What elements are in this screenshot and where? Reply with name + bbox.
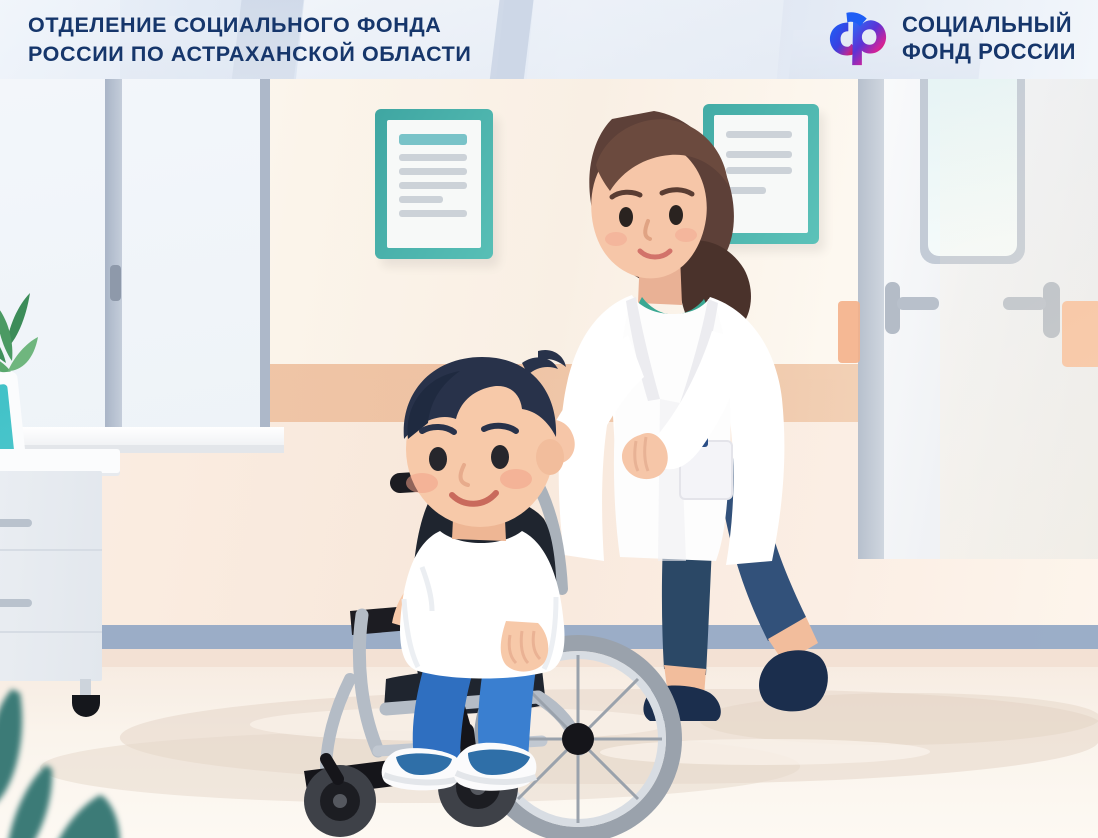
cabinet-drawer-divider-1 [0,549,102,551]
poster-canvas: ОТДЕЛЕНИЕ СОЦИАЛЬНОГО ФОНДА РОССИИ ПО АС… [0,0,1098,838]
sfr-logo-icon [827,7,889,69]
poster-line-4 [399,196,443,203]
child-shoe-near [453,743,536,791]
cabinet-body [0,471,102,681]
illustration-scene [0,79,1098,838]
cabinet-top [0,449,120,473]
page-title: ОТДЕЛЕНИЕ СОЦИАЛЬНОГО ФОНДА РОССИИ ПО АС… [28,11,471,69]
door-light-gradient [940,79,1098,559]
cabinet-drawer-divider-2 [0,631,102,633]
cabinet-handle-2[interactable] [0,599,32,607]
poster-line-1 [399,154,467,161]
header-decor-shape-6 [521,0,784,79]
wall-poster-left-paper [387,120,481,248]
brand-lockup: СОЦИАЛЬНЫЙ ФОНД РОССИИ [827,7,1076,69]
door-handle-left-lever[interactable] [897,297,939,310]
header-decor-shape-5 [484,0,539,79]
foreground-plant [0,679,210,838]
poster-line-2 [399,168,467,175]
poster-line-3 [399,182,467,189]
poster-line-title [399,134,467,145]
child-shoe-far [382,748,461,790]
child-figure [300,299,720,838]
brand-name: СОЦИАЛЬНЫЙ ФОНД РОССИИ [902,11,1076,65]
cabinet-handle-1[interactable] [0,519,32,527]
header-bar: ОТДЕЛЕНИЕ СОЦИАЛЬНОГО ФОНДА РОССИИ ПО АС… [0,0,1098,79]
poster-line-5 [399,210,467,217]
doctor-shoe-front [759,650,828,711]
